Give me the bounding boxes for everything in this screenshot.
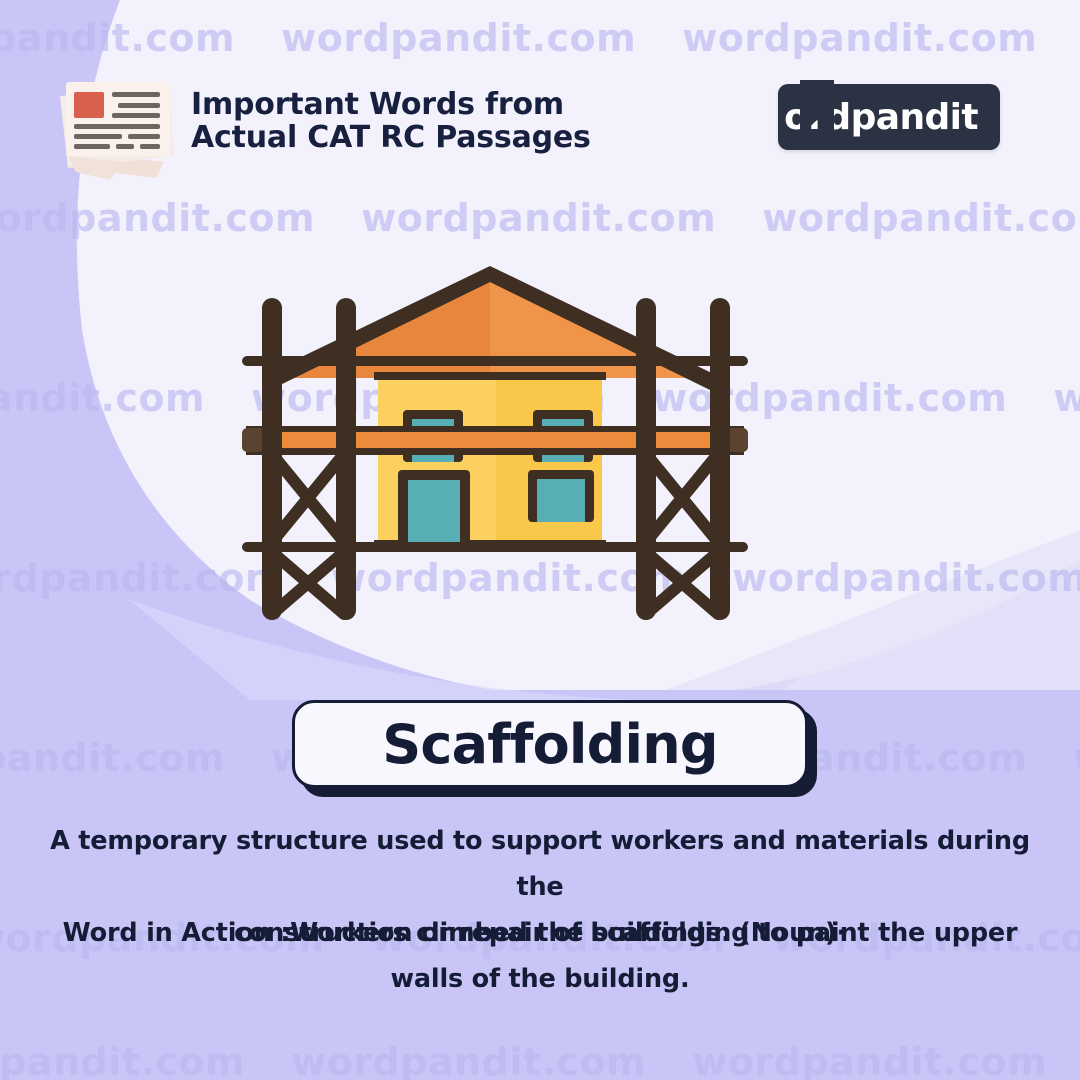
page-title: Important Words from Actual CAT RC Passa… bbox=[191, 88, 591, 154]
vocabulary-word: Scaffolding bbox=[382, 713, 717, 776]
header: Important Words from Actual CAT RC Passa… bbox=[0, 72, 1080, 182]
usage-line2: walls of the building. bbox=[30, 956, 1050, 1002]
page-title-line1: Important Words from bbox=[191, 88, 591, 121]
bookmark-icon bbox=[796, 78, 838, 140]
definition-line1: A temporary structure used to support wo… bbox=[30, 818, 1050, 910]
usage-block: Word in Action :Workers climbed the scaf… bbox=[30, 910, 1050, 1002]
newspaper-icon bbox=[52, 76, 180, 180]
brand-logo[interactable]: ordpandit bbox=[778, 84, 1000, 150]
scaffolding-illustration bbox=[240, 258, 750, 626]
usage-line1: Word in Action :Workers climbed the scaf… bbox=[30, 910, 1050, 956]
word-badge[interactable]: Scaffolding bbox=[292, 700, 808, 788]
word-badge-container: Scaffolding bbox=[0, 700, 1080, 798]
page-title-line2: Actual CAT RC Passages bbox=[191, 121, 591, 154]
